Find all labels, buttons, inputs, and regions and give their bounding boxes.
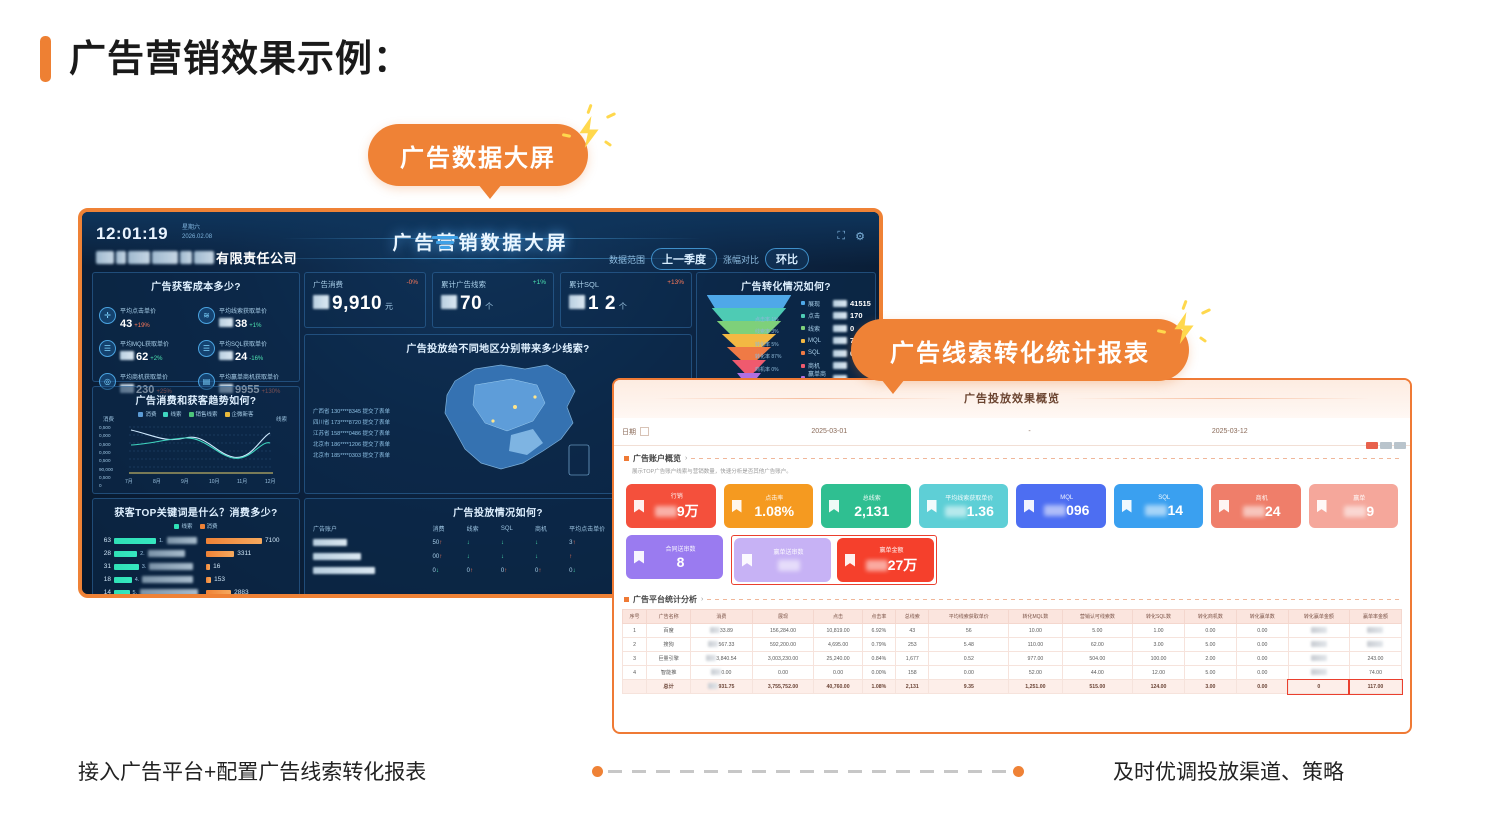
redacted-keyword <box>167 537 197 544</box>
platform-table-body: 1百度33.89156,284.0010,819.006.92%435610.0… <box>623 624 1402 694</box>
funnel-panel-title: 广告转化情况如何? <box>697 273 875 293</box>
platform-column-header: 广告名称 <box>647 610 691 624</box>
date-separator: - <box>1010 428 1050 435</box>
keyword-spend-bar <box>206 564 210 570</box>
delivery-cell: ↓ <box>459 550 493 564</box>
platform-cell: 40,760.00 <box>814 680 862 694</box>
legend-swatch-icon <box>801 364 805 368</box>
trend-x-tick: 10月 <box>209 478 220 485</box>
badge-red-icon[interactable] <box>1366 442 1378 449</box>
platform-column-header: 转化赢单数 <box>1236 610 1288 624</box>
redacted-block <box>1044 505 1066 516</box>
cost-metric-delta: +19% <box>134 323 150 329</box>
trend-arrow-icon: ↑ <box>504 568 507 574</box>
bookmark-icon <box>927 500 937 513</box>
platform-column-header: 转化赢单金额 <box>1288 610 1349 624</box>
keyword-lead-value: 63 <box>98 537 111 544</box>
table-section-title: 广告平台统计分析 <box>633 594 697 605</box>
date-range-filter[interactable]: 日期 2025-03-01 - 2025-03-12 <box>614 418 1410 446</box>
redacted-block <box>833 337 847 344</box>
platform-cell: 3.00 <box>1133 638 1185 652</box>
connector-line <box>608 770 1008 773</box>
overview-stat-card[interactable]: 行销 9万 <box>626 484 716 528</box>
delivery-account-cell <box>305 550 425 564</box>
platform-cell: 100.00 <box>1133 652 1185 666</box>
platform-cell: 总计 <box>647 680 691 694</box>
platform-column-header: 总线索 <box>896 610 929 624</box>
fullscreen-icon[interactable]: ⛶ <box>837 230 845 243</box>
cost-metric-delta: +2% <box>150 356 162 362</box>
platform-cell: 0.00 <box>929 666 1009 680</box>
platform-cell: 0.00 <box>1236 624 1288 638</box>
funnel-stage-value: 170 <box>850 311 863 320</box>
platform-cell: 0.00 <box>1236 666 1288 680</box>
platform-cell: 2,131 <box>896 680 929 694</box>
keyword-lead-bar <box>114 538 156 544</box>
section-marker-icon <box>624 597 629 602</box>
trend-arrow-icon: ↑ <box>470 568 473 574</box>
table-row: 3巨量引擎3,840.543,003,230.0025,240.000.84%1… <box>623 652 1402 666</box>
stat-card-value: 24 <box>1229 503 1295 519</box>
page-title: 广告营销效果示例： <box>40 36 411 82</box>
stat-card-value: 1.08% <box>742 503 808 519</box>
redacted-block <box>778 560 800 571</box>
funnel-legend-row: 点击 170 <box>801 310 871 323</box>
platform-cell: 3.00 <box>1184 680 1236 694</box>
bookmark-icon <box>1122 500 1132 513</box>
section-divider <box>707 599 1400 600</box>
date-start-value[interactable]: 2025-03-01 <box>649 428 1010 435</box>
stat-card-value <box>752 557 825 573</box>
platform-table-header: 序号广告名称消费展现点击点击率总线索平均线索获取单价转化MQL数营销认可线索数转… <box>623 610 1402 624</box>
trend-arrow-icon: ↑ <box>569 554 572 560</box>
legend-swatch-icon <box>801 326 805 330</box>
platform-cell: 10.00 <box>1009 624 1062 638</box>
platform-cell: 12.00 <box>1133 666 1185 680</box>
chevron-right-icon[interactable]: › <box>685 455 687 462</box>
platform-cell <box>1288 624 1349 638</box>
stat-card-label: 总线索 <box>839 493 905 502</box>
overview-stat-card[interactable]: 平均线索获取单价 1.36 <box>919 484 1009 528</box>
trend-legend: 消费线索销售线索企微新客 <box>93 407 299 418</box>
layers-icon: ≋ <box>198 307 215 324</box>
trend-arrow-icon: ↓ <box>501 554 504 560</box>
legend-swatch-icon <box>189 412 194 417</box>
platform-cell: 3,003,230.00 <box>752 652 814 666</box>
redacted-block <box>1311 641 1327 647</box>
keyword-rank: 3. <box>142 564 147 570</box>
platform-cell: 1.00 <box>1133 624 1185 638</box>
legend-swatch-icon <box>801 351 805 355</box>
redacted-block <box>833 312 847 319</box>
keyword-spend-value: 3311 <box>237 550 251 557</box>
funnel-stage-rate: 转化率 5% <box>755 341 779 348</box>
redacted-block <box>708 683 718 689</box>
cost-metric-label: 平均商机获取单价 <box>120 375 168 381</box>
trend-arrow-icon: ↓ <box>467 540 470 546</box>
overview-stat-card[interactable]: 赢单送审数 <box>734 538 831 582</box>
redacted-keyword <box>142 576 193 583</box>
callout-lead-report: 广告线索转化统计报表 <box>851 319 1189 381</box>
redacted-keyword <box>148 550 185 557</box>
platform-column-header: 平均线索获取单价 <box>929 610 1009 624</box>
keyword-rank: 1. <box>159 538 164 544</box>
platform-cell: 1,677 <box>896 652 929 666</box>
platform-cell: 504.00 <box>1062 652 1132 666</box>
platform-cell: 567.33 <box>691 638 753 652</box>
platform-cell: 253 <box>896 638 929 652</box>
cost-metric-label: 平均点击单价 <box>120 309 156 315</box>
legend-label: 企微新客 <box>232 410 254 418</box>
lead-feed-item: 江苏省 158****0486 提交了表单 <box>313 429 390 440</box>
delivery-column-header: SQL <box>493 522 527 536</box>
overview-stat-card[interactable]: 赢单金额 27万 <box>837 538 934 582</box>
delivery-cell: 00↑ <box>425 550 459 564</box>
delivery-column-header: 消费 <box>425 522 459 536</box>
platform-cell: 0.52 <box>929 652 1009 666</box>
decor-line <box>1070 398 1370 399</box>
kpi-value: 70 <box>460 293 482 315</box>
platform-cell <box>1288 638 1349 652</box>
platform-cell: 33.89 <box>691 624 753 638</box>
trend-x-tick: 11月 <box>237 478 247 485</box>
list-icon: ☰ <box>198 340 215 357</box>
platform-cell: 5.00 <box>1062 624 1132 638</box>
redacted-block <box>313 539 347 546</box>
map-lead-feed: 广西省 130****8345 提交了表单四川省 173****8720 提交了… <box>313 407 390 462</box>
kpi-delta: +13% <box>667 279 684 286</box>
trend-panel: 广告消费和获客趋势如何? 消费线索销售线索企微新客 消费 线索 0,5000,0… <box>92 386 300 494</box>
trend-arrow-icon: ↓ <box>467 554 470 560</box>
cost-metric-item: ☰ 平均MQL获取单价 62+2% <box>99 333 194 363</box>
bookmark-icon <box>829 500 839 513</box>
delivery-cell: ↓ <box>493 550 527 564</box>
keyword-lead-value: 28 <box>98 550 111 557</box>
redacted-block <box>1367 641 1383 647</box>
cost-metric-label: 平均线索获取单价 <box>219 309 267 315</box>
bookmark-icon <box>634 500 644 513</box>
table-row: 总计931.753,755,752.0040,760.001.08%2,1319… <box>623 680 1402 694</box>
stat-card-label: 赢单 <box>1327 493 1393 502</box>
trend-arrow-icon: ↓ <box>436 568 439 574</box>
delivery-cell: ↓ <box>459 536 493 550</box>
platform-cell: 117.00 <box>1349 680 1401 694</box>
kpi-delta: +1% <box>533 279 546 286</box>
keyword-spend-value: 7100 <box>265 537 279 544</box>
platform-column-header: 转化商机数 <box>1184 610 1236 624</box>
trend-arrow-icon: ↑ <box>572 540 575 546</box>
redacted-block <box>1311 627 1327 633</box>
callout-tail <box>478 184 502 199</box>
platform-cell: 243.00 <box>1349 652 1401 666</box>
legend-item: 销售线索 <box>189 410 218 418</box>
funnel-stage-rate: 线索率 3% <box>755 328 779 335</box>
overview-stat-card[interactable]: 点击率 1.08% <box>724 484 814 528</box>
legend-item: 消费 <box>138 410 156 418</box>
platform-column-header: 消费 <box>691 610 753 624</box>
table-section-header: 广告平台统计分析 › <box>614 585 1410 605</box>
cost-metric-label: 平均赢单商机获取单价 <box>219 375 279 381</box>
stat-card-value: 14 <box>1132 502 1198 518</box>
keyword-panel-title: 获客TOP关键词是什么？消费多少? <box>93 499 299 519</box>
redacted-block <box>706 655 716 661</box>
funnel-stage-rate: 转化率 87% <box>755 353 781 360</box>
stat-card-label: 赢单金额 <box>855 545 928 554</box>
platform-cell: 10,819.00 <box>814 624 862 638</box>
keyword-spend-row: 7100 <box>206 534 294 547</box>
connector-dot-icon <box>1013 766 1024 777</box>
redacted-block <box>1145 505 1167 516</box>
platform-cell: 0.84% <box>862 652 895 666</box>
redacted-keyword <box>140 589 198 596</box>
stat-card-value: 8 <box>644 554 717 570</box>
platform-cell: 0.00 <box>1184 624 1236 638</box>
range-filter-value[interactable]: 上一季度 <box>651 248 717 270</box>
overview-stat-card[interactable]: 合同送审数 8 <box>626 535 723 579</box>
platform-column-header: 点击 <box>814 610 862 624</box>
delivery-column-header: 商机 <box>527 522 561 536</box>
delivery-cell: ↓ <box>493 536 527 550</box>
platform-cell: 6.92% <box>862 624 895 638</box>
keyword-spend-bar <box>206 577 211 583</box>
date-end-value[interactable]: 2025-03-12 <box>1050 428 1411 435</box>
redacted-block <box>1311 655 1327 661</box>
platform-cell: 56 <box>929 624 1009 638</box>
stat-card-label: 行销 <box>644 491 710 500</box>
redacted-block <box>833 325 847 332</box>
decor-line <box>654 398 954 399</box>
platform-cell: 0.00 <box>1236 680 1288 694</box>
badge-gray-icon[interactable] <box>1380 442 1392 449</box>
funnel-stage-name: SQL <box>808 350 830 356</box>
platform-cell: 智能推 <box>647 666 691 680</box>
legend-swatch-icon <box>225 412 230 417</box>
funnel-stage-name: 点击 <box>808 311 830 320</box>
redacted-block <box>833 362 847 369</box>
cost-metric-delta: +1% <box>249 323 261 329</box>
cost-metric-item: ☰ 平均SQL获取单价 24-16% <box>198 333 293 363</box>
stat-card-label: MQL <box>1034 495 1100 501</box>
calendar-icon[interactable] <box>640 427 649 436</box>
platform-cell: 4 <box>623 666 647 680</box>
legend-item: 线索 <box>163 410 181 418</box>
trend-arrow-icon: ↓ <box>535 554 538 560</box>
keyword-row: 28 2. <box>98 547 203 560</box>
cost-metric-value: 43 <box>120 318 132 330</box>
overview-section-description: 展示TOP广告账户线索与营销数量，快速分析是否其他广告账户。 <box>614 464 1410 475</box>
list-icon: ☰ <box>99 340 116 357</box>
cost-panel: 广告获客成本多少? ✛ 平均点击单价 43+19% ≋ 平均线索获取单价 38+… <box>92 272 300 382</box>
table-row: 1百度33.89156,284.0010,819.006.92%435610.0… <box>623 624 1402 638</box>
funnel-stage-name: 展现 <box>808 299 830 308</box>
funnel-stage-name: 线索 <box>808 324 830 333</box>
platform-table-wrapper[interactable]: 序号广告名称消费展现点击点击率总线索平均线索获取单价转化MQL数营销认可线索数转… <box>614 605 1410 694</box>
funnel-stage-value: 0 <box>850 324 854 333</box>
keyword-spend-row: 2883 <box>206 586 294 598</box>
redacted-block <box>1367 627 1383 633</box>
platform-cell <box>1349 624 1401 638</box>
kpi-card: 累计广告线索 70个 +1% <box>432 272 554 328</box>
keyword-spend-bars: 7100 3311 16 153 2883 <box>206 534 294 598</box>
delivery-cell: 0↓ <box>425 564 459 578</box>
kpi-unit: 元 <box>385 301 393 312</box>
trend-panel-title: 广告消费和获客趋势如何? <box>93 387 299 407</box>
title-accent-bar <box>40 36 51 82</box>
overview-stat-card[interactable]: 总线索 2,131 <box>821 484 911 528</box>
platform-cell <box>1288 666 1349 680</box>
redacted-block <box>313 553 361 560</box>
overview-stat-card[interactable]: 赢单 9 <box>1309 484 1399 528</box>
legend-swatch-icon <box>174 524 179 529</box>
kpi-delta: -0% <box>406 279 418 286</box>
platform-cell <box>623 680 647 694</box>
keyword-legend: 线索消费 <box>93 519 299 530</box>
keyword-row: 63 1. <box>98 534 203 547</box>
platform-cell: 2 <box>623 638 647 652</box>
cost-metric-delta: -16% <box>249 356 263 362</box>
redacted-block <box>569 295 585 309</box>
lead-feed-item: 四川省 173****8720 提交了表单 <box>313 418 390 429</box>
keyword-spend-value: 2883 <box>234 589 248 596</box>
delivery-cell: ↓ <box>527 550 561 564</box>
sparkle-icon <box>560 104 618 162</box>
legend-swatch-icon <box>138 412 143 417</box>
compare-filter-value[interactable]: 环比 <box>765 248 809 270</box>
trend-y-tick: 0 <box>99 483 102 488</box>
cost-metric-item: ✛ 平均点击单价 43+19% <box>99 300 194 330</box>
overview-stat-card[interactable]: MQL 096 <box>1016 484 1106 528</box>
platform-cell: 52.00 <box>1009 666 1062 680</box>
legend-swatch-icon <box>801 314 805 318</box>
platform-cell: 158 <box>896 666 929 680</box>
trend-arrow-icon: ↑ <box>439 554 442 560</box>
badge-gray-icon[interactable] <box>1394 442 1406 449</box>
keyword-rank: 2. <box>140 551 145 557</box>
platform-cell: 0.79% <box>862 638 895 652</box>
platform-cell: 0.00 <box>814 666 862 680</box>
section-divider <box>691 458 1400 459</box>
funnel-stage-name: MQL <box>808 338 830 344</box>
stat-card-label: 赢单送审数 <box>752 547 825 556</box>
chevron-right-icon[interactable]: › <box>701 596 703 603</box>
trend-x-tick: 9月 <box>181 478 189 485</box>
funnel-segment <box>707 295 792 308</box>
keyword-lead-value: 14 <box>98 589 111 596</box>
redacted-block <box>313 295 329 309</box>
keyword-spend-row: 16 <box>206 560 294 573</box>
callout-label: 广告线索转化统计报表 <box>890 333 1150 368</box>
keyword-lead-bar <box>114 590 130 596</box>
footer-right-text: 及时优调投放渠道、策略 <box>1113 756 1344 786</box>
stat-card-value: 27万 <box>855 555 928 575</box>
keyword-lead-bar <box>114 551 137 557</box>
legend-swatch-icon <box>200 524 205 529</box>
trend-arrow-icon: ↓ <box>572 568 575 574</box>
redacted-block <box>313 567 375 574</box>
platform-cell: 74.00 <box>1349 666 1401 680</box>
platform-cell: 124.00 <box>1133 680 1185 694</box>
trend-arrow-icon: ↑ <box>439 540 442 546</box>
section-marker-icon <box>624 456 629 461</box>
platform-column-header: 点击率 <box>862 610 895 624</box>
platform-cell: 110.00 <box>1009 638 1062 652</box>
gear-icon[interactable]: ⚙ <box>855 230 865 243</box>
lead-conversion-report[interactable]: 广告投放效果概览 日期 2025-03-01 - 2025-03-12 广告账户… <box>612 378 1412 734</box>
dashboard-window-icons[interactable]: ⛶ ⚙ <box>837 230 865 243</box>
keyword-spend-bar <box>206 590 231 596</box>
redacted-block <box>441 295 457 309</box>
keyword-spend-bar <box>206 538 262 544</box>
date-range-label: 日期 <box>614 427 640 437</box>
trend-arrow-icon: ↑ <box>538 568 541 574</box>
overview-cards-row-2: 合同送审数 8 赢单送审数 赢单金额 27万 <box>614 528 1410 585</box>
china-map-icon[interactable] <box>415 351 605 486</box>
funnel-stage-value: 41515 <box>850 299 871 308</box>
platform-cell: 1.08% <box>862 680 895 694</box>
redacted-block <box>1311 669 1327 675</box>
redacted-block <box>1344 506 1366 517</box>
platform-cell: 5.00 <box>1184 666 1236 680</box>
keyword-row: 14 5. <box>98 586 203 598</box>
trend-arrow-icon: ↓ <box>501 540 504 546</box>
keyword-lead-bars: 63 1. 28 2. 31 3. 18 4. 14 5. <box>98 534 203 598</box>
kpi-value: 1 2 <box>588 293 616 315</box>
keyword-row: 31 3. <box>98 560 203 573</box>
lead-feed-item: 北京市 186****1206 提交了表单 <box>313 440 390 451</box>
redacted-block <box>1243 506 1265 517</box>
platform-cell: 5.00 <box>1184 638 1236 652</box>
dashboard-filters[interactable]: 数据范围 上一季度 涨幅对比 环比 <box>609 248 809 270</box>
delivery-account-cell <box>305 564 425 578</box>
stat-card-value: 9万 <box>644 501 710 521</box>
legend-label: 线索 <box>181 522 192 530</box>
bookmark-icon <box>1024 500 1034 513</box>
stat-card-label: SQL <box>1132 495 1198 501</box>
keyword-rank: 4. <box>135 577 140 583</box>
trend-x-tick: 7月 <box>125 478 133 485</box>
legend-label: 销售线索 <box>196 410 218 418</box>
footer-connector <box>592 766 1024 777</box>
cost-metric-value: 62 <box>136 351 148 363</box>
funnel-stage-rate: 点击率 1% <box>755 316 779 323</box>
redacted-block <box>120 351 134 360</box>
legend-label: 消费 <box>207 522 218 530</box>
overview-stat-card[interactable]: 商机 24 <box>1211 484 1301 528</box>
platform-cell: 0.00 <box>752 666 814 680</box>
platform-cell: 9.35 <box>929 680 1009 694</box>
lead-feed-item: 广西省 130****8345 提交了表单 <box>313 407 390 418</box>
overview-stat-card[interactable]: SQL 14 <box>1114 484 1204 528</box>
delivery-column-header: 广告账户 <box>305 522 425 536</box>
keyword-rank: 5. <box>133 590 138 596</box>
compare-filter-label: 涨幅对比 <box>723 253 759 266</box>
platform-cell: 0.00 <box>1236 638 1288 652</box>
platform-cell <box>1349 638 1401 652</box>
report-toolbar-badges[interactable] <box>1366 442 1406 449</box>
stat-card-label: 点击率 <box>742 493 808 502</box>
legend-label: 线索 <box>170 410 181 418</box>
cost-metric-label: 平均MQL获取单价 <box>120 342 169 348</box>
callout-label: 广告数据大屏 <box>400 138 556 173</box>
platform-cell: 1,251.00 <box>1009 680 1062 694</box>
keyword-lead-bar <box>114 577 132 583</box>
page-title-text: 广告营销效果示例： <box>69 36 411 82</box>
stat-card-label: 商机 <box>1229 493 1295 502</box>
platform-cell: 25,240.00 <box>814 652 862 666</box>
trend-x-tick: 8月 <box>153 478 161 485</box>
funnel-stage-rate: 商机率 0% <box>755 366 779 373</box>
legend-swatch-icon <box>163 412 168 417</box>
